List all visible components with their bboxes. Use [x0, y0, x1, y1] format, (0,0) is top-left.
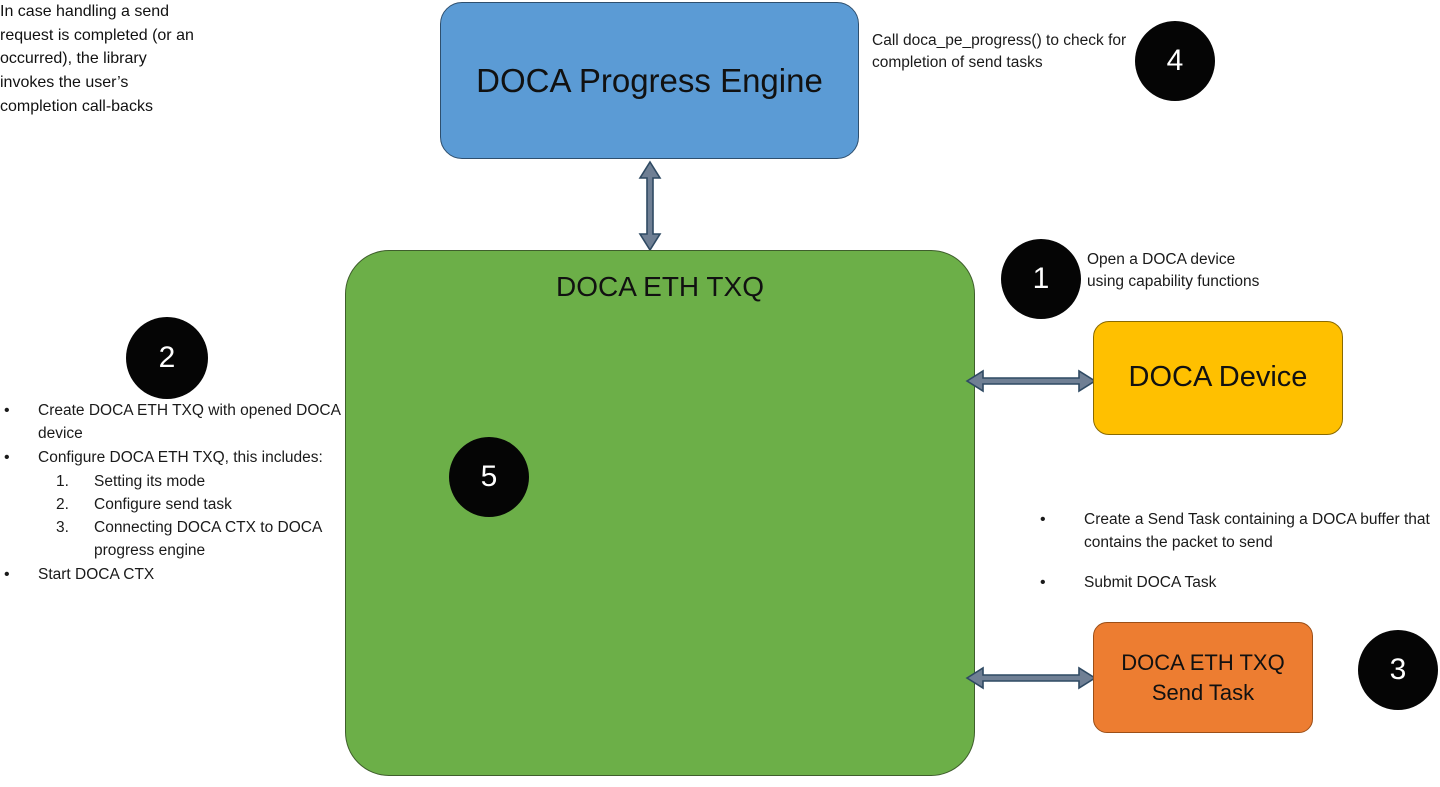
left-list-item-text: Connecting DOCA CTX to DOCA progress eng…	[94, 516, 349, 563]
list-number: 2.	[56, 493, 94, 516]
left-list-item-text: Configure DOCA ETH TXQ, this includes:	[38, 446, 349, 469]
bullet-icon: •	[4, 563, 38, 587]
step-3-number: 3	[1390, 653, 1407, 687]
right-bullet-list: •Create a Send Task containing a DOCA bu…	[1040, 508, 1440, 595]
right-list-item-text: Submit DOCA Task	[1084, 571, 1440, 594]
bullet-icon: •	[4, 399, 38, 423]
doca-progress-engine-label: DOCA Progress Engine	[476, 62, 823, 100]
step-2-badge: 2	[126, 317, 208, 399]
list-number: 1.	[56, 470, 94, 493]
diagram-canvas: DOCA Progress Engine DOCA ETH TXQ 5 In c…	[0, 0, 1440, 787]
step-1-number: 1	[1033, 262, 1050, 296]
bullet-icon: •	[1040, 508, 1084, 532]
left-list-item: •Configure DOCA ETH TXQ, this includes:	[4, 446, 349, 470]
arrow-progress-engine-to-eth-txq	[637, 160, 663, 252]
doca-eth-txq-box: DOCA ETH TXQ	[345, 250, 975, 776]
step-4-badge: 4	[1135, 21, 1215, 101]
step-5-note: In case handling a send request is compl…	[0, 0, 196, 118]
left-list-item-text: Start DOCA CTX	[38, 563, 349, 586]
right-list-item: •Create a Send Task containing a DOCA bu…	[1040, 508, 1440, 555]
doca-device-box: DOCA Device	[1093, 321, 1343, 435]
doca-eth-txq-label: DOCA ETH TXQ	[346, 271, 974, 303]
arrow-eth-txq-to-send-task	[965, 665, 1097, 691]
left-list-item: 2.Configure send task	[56, 493, 349, 516]
right-list-item-text: Create a Send Task containing a DOCA buf…	[1084, 508, 1440, 555]
step-5-badge: 5	[449, 437, 529, 517]
left-list-item: 3.Connecting DOCA CTX to DOCA progress e…	[56, 516, 349, 563]
doca-eth-txq-send-task-box: DOCA ETH TXQ Send Task	[1093, 622, 1313, 733]
left-list-item: 1.Setting its mode	[56, 470, 349, 493]
bullet-icon: •	[4, 446, 38, 470]
left-list-item-text: Configure send task	[94, 493, 349, 516]
step-1-note: Open a DOCA device using capability func…	[1087, 249, 1337, 294]
step-4-number: 4	[1167, 44, 1184, 78]
doca-eth-txq-send-task-label: DOCA ETH TXQ Send Task	[1121, 648, 1284, 707]
right-list-item: •Submit DOCA Task	[1040, 571, 1440, 595]
doca-progress-engine-box: DOCA Progress Engine	[440, 2, 859, 159]
step-1-badge: 1	[1001, 239, 1081, 319]
list-number: 3.	[56, 516, 94, 539]
step-3-badge: 3	[1358, 630, 1438, 710]
arrow-eth-txq-to-doca-device	[965, 368, 1097, 394]
right-list-spacer	[1040, 555, 1440, 571]
left-bullet-list: •Create DOCA ETH TXQ with opened DOCA de…	[4, 399, 349, 587]
left-list-item: •Start DOCA CTX	[4, 563, 349, 587]
left-list-item: •Create DOCA ETH TXQ with opened DOCA de…	[4, 399, 349, 446]
left-list-item-text: Setting its mode	[94, 470, 349, 493]
doca-device-label: DOCA Device	[1129, 361, 1308, 394]
bullet-icon: •	[1040, 571, 1084, 595]
step-4-note: Call doca_pe_progress() to check for com…	[872, 30, 1132, 75]
step-5-number: 5	[481, 460, 498, 494]
step-2-number: 2	[159, 341, 176, 375]
left-list-item-text: Create DOCA ETH TXQ with opened DOCA dev…	[38, 399, 349, 446]
